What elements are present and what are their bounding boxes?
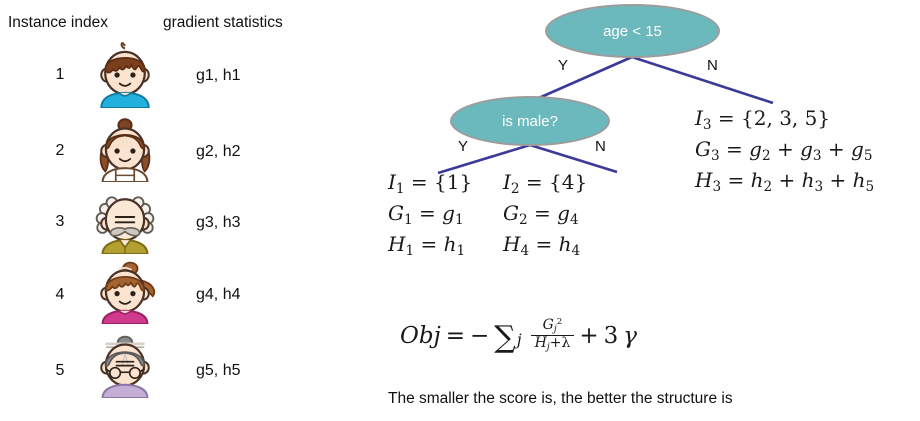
table-row: 4 g4, h4 [0, 258, 340, 328]
tree-node-is-male[interactable]: is male? [450, 96, 610, 146]
table-row: 3 [0, 188, 340, 258]
table-row: 2 g2, h2 [0, 116, 340, 186]
slide-canvas: Instance index gradient statistics 1 [0, 0, 920, 421]
tree-node-root-label: age < 15 [603, 23, 662, 40]
leaf-1-G: G1 = g1 [388, 199, 472, 230]
row-index: 4 [48, 286, 72, 304]
edge-label-child-no: N [595, 138, 606, 155]
leaf-3-instance-set: I3 = {2, 3, 5} [695, 104, 874, 135]
leaf-1-instance-set: I1 = {1} [388, 168, 472, 199]
fraction-denominator: Hj+λ [531, 335, 575, 353]
objective-formula: Obj = − ∑j Gj2 Hj+λ + 3γ [400, 318, 637, 354]
instance-table: Instance index gradient statistics 1 [0, 0, 340, 421]
tree-node-is-male-label: is male? [502, 113, 558, 130]
boy-blue-shirt-avatar [92, 42, 158, 108]
table-row: 1 g1, h1 [0, 42, 340, 112]
row-index: 1 [48, 66, 72, 84]
row-gradient-stats: g2, h2 [196, 143, 240, 161]
row-index: 5 [48, 362, 72, 380]
leaf-3-H: H3 = h2 + h3 + h5 [695, 166, 874, 197]
objective-lhs: Obj [400, 323, 441, 349]
tree-node-root[interactable]: age < 15 [545, 4, 720, 58]
objective-minus: − [470, 323, 489, 349]
leaf-1-H: H1 = h1 [388, 230, 472, 261]
column-header-instance-index: Instance index [8, 14, 108, 32]
leaf-3-statistics: I3 = {2, 3, 5} G3 = g2 + g3 + g5 H3 = h2… [695, 104, 874, 197]
leaf-2-H: H4 = h4 [503, 230, 587, 261]
caption-text: The smaller the score is, the better the… [388, 390, 733, 408]
old-man-mustache-avatar [92, 188, 158, 254]
objective-fraction: Gj2 Hj+λ [531, 318, 575, 354]
row-index: 2 [48, 142, 72, 160]
summation-icon: ∑ [494, 326, 515, 350]
edge-label-child-yes: Y [458, 138, 468, 155]
row-gradient-stats: g5, h5 [196, 362, 240, 380]
girl-braids-avatar [92, 116, 158, 182]
leaf-2-statistics: I2 = {4} G2 = g4 H4 = h4 [503, 168, 587, 261]
objective-plus: + [579, 323, 598, 349]
objective-equals: = [446, 323, 465, 349]
leaf-3-G: G3 = g2 + g3 + g5 [695, 135, 874, 166]
girl-ponytail-avatar [92, 258, 158, 324]
leaf-2-instance-set: I2 = {4} [503, 168, 587, 199]
column-header-gradient-statistics: gradient statistics [163, 14, 283, 32]
row-gradient-stats: g3, h3 [196, 214, 240, 232]
table-row: 5 g5 [0, 332, 340, 402]
summation-index: j [517, 330, 522, 349]
row-gradient-stats: g1, h1 [196, 67, 240, 85]
row-gradient-stats: g4, h4 [196, 286, 240, 304]
objective-gamma-count: 3 [604, 323, 619, 349]
edge-label-root-no: N [707, 57, 718, 74]
objective-gamma: γ [623, 323, 637, 349]
edge-label-root-yes: Y [558, 57, 568, 74]
leaf-2-G: G2 = g4 [503, 199, 587, 230]
leaf-1-statistics: I1 = {1} G1 = g1 H1 = h1 [388, 168, 472, 261]
fraction-numerator: Gj2 [539, 318, 567, 335]
row-index: 3 [48, 213, 72, 231]
old-woman-glasses-avatar [92, 332, 158, 398]
decision-tree-panel: age < 15 is male? Y N Y N I1 = {1} G1 = … [340, 0, 920, 421]
